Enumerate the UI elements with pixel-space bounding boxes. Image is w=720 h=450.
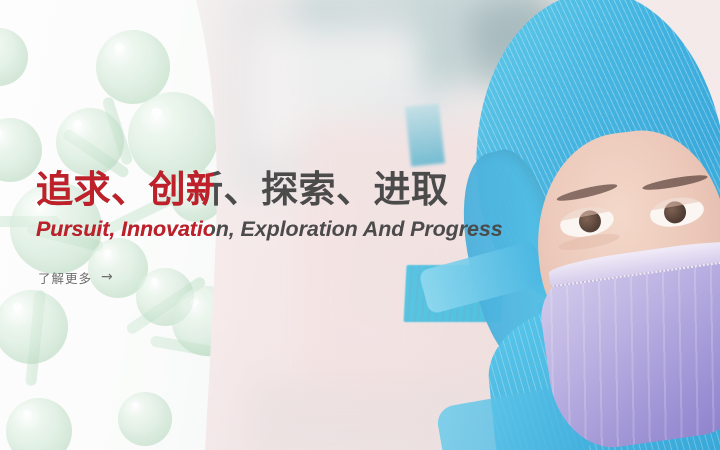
- cyan-equipment-small: [405, 103, 445, 166]
- page-subtitle: Pursuit, Innovation, Exploration And Pro…: [36, 217, 676, 242]
- molecule-atom: [6, 398, 72, 450]
- hero-banner: 追求、创新、探索、进取 追求、创新、探索、进取 Pursuit, Innovat…: [0, 0, 720, 450]
- hero-copy: 追求、创新、探索、进取 追求、创新、探索、进取 Pursuit, Innovat…: [36, 168, 676, 288]
- subtitle-text-gray: Pursuit, Innovation, Exploration And Pro…: [36, 217, 503, 241]
- learn-more-label: 了解更多: [38, 268, 92, 287]
- molecule-atom: [96, 30, 170, 104]
- headline-text-gray: 追求、创新、探索、进取: [36, 168, 449, 211]
- molecule-atom: [56, 108, 124, 176]
- learn-more-link[interactable]: 了解更多 →: [38, 268, 114, 287]
- molecule-atom: [0, 290, 68, 364]
- arrow-right-icon: →: [101, 270, 114, 284]
- page-title: 追求、创新、探索、进取 追求、创新、探索、进取: [36, 168, 676, 212]
- molecule-atom: [118, 392, 172, 446]
- molecule-atom: [0, 28, 28, 86]
